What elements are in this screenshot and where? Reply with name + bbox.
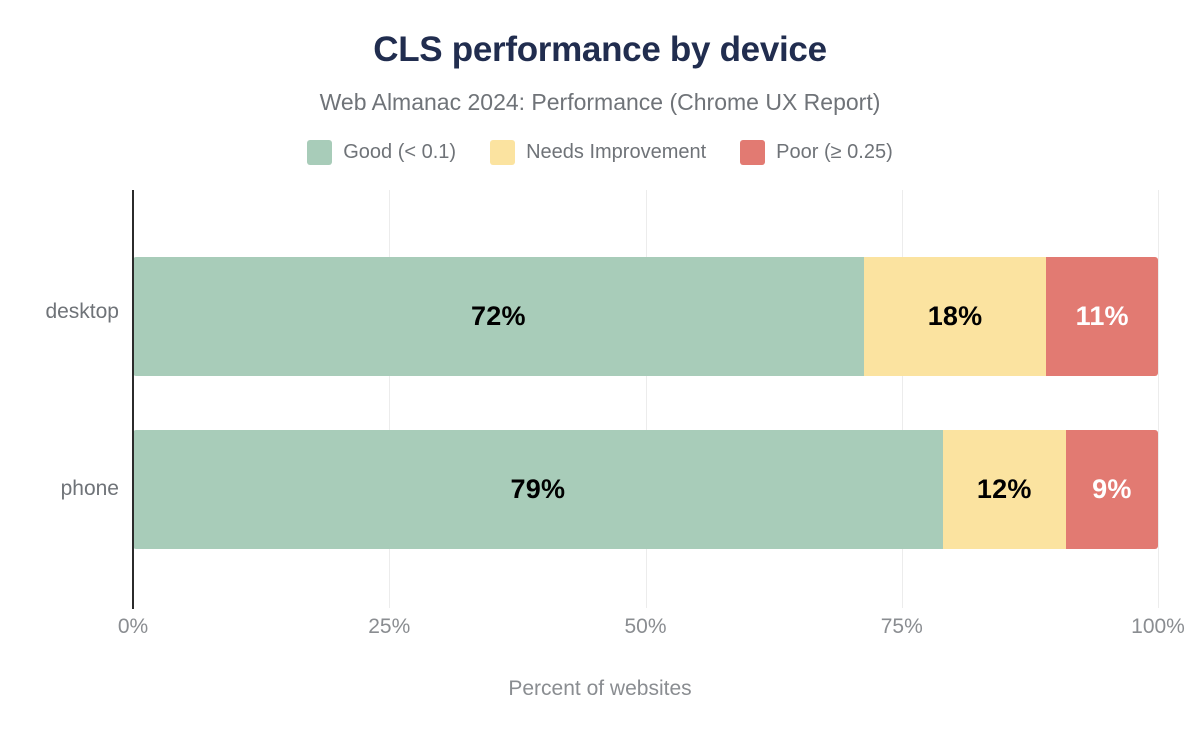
bar-label-desktop-needs-improvement: 18% [928,301,983,332]
legend-swatch-needs-improvement-icon [490,140,515,165]
chart-subtitle: Web Almanac 2024: Performance (Chrome UX… [0,89,1200,116]
x-tick-label-25: 25% [368,615,410,639]
legend-label-needs-improvement: Needs Improvement [526,141,706,164]
legend-item-good[interactable]: Good (< 0.1) [307,140,456,165]
bar-label-phone-poor: 9% [1092,474,1131,505]
x-tick-label-0: 0% [118,615,148,639]
y-tick-label-phone: phone [0,477,119,501]
bar-label-phone-needs-improvement: 12% [977,474,1032,505]
bar-label-desktop-poor: 11% [1076,301,1129,332]
legend-swatch-poor-icon [740,140,765,165]
bar-segment-phone-good[interactable]: 79% [133,430,943,549]
plot-area: 72% 18% 11% 79% 12% 9% [133,190,1158,608]
x-tick-label-50: 50% [624,615,666,639]
bar-label-phone-good: 79% [511,474,566,505]
bar-segment-desktop-needs-improvement[interactable]: 18% [864,257,1047,376]
chart-legend: Good (< 0.1) Needs Improvement Poor (≥ 0… [0,140,1200,165]
bar-segment-desktop-poor[interactable]: 11% [1046,257,1158,376]
chart-title: CLS performance by device [0,30,1200,70]
chart-figure: CLS performance by device Web Almanac 20… [0,0,1200,742]
y-tick-label-desktop: desktop [0,300,119,324]
bar-segment-phone-poor[interactable]: 9% [1066,430,1158,549]
bar-label-desktop-good: 72% [471,301,526,332]
x-tick-label-75: 75% [881,615,923,639]
legend-item-needs-improvement[interactable]: Needs Improvement [490,140,706,165]
bar-row-desktop[interactable]: 72% 18% 11% [133,257,1158,376]
bar-segment-phone-needs-improvement[interactable]: 12% [943,430,1066,549]
bar-row-phone[interactable]: 79% 12% 9% [133,430,1158,549]
legend-swatch-good-icon [307,140,332,165]
legend-label-poor: Poor (≥ 0.25) [776,141,893,164]
gridline-100 [1158,190,1159,608]
bar-segment-desktop-good[interactable]: 72% [133,257,864,376]
x-tick-label-100: 100% [1131,615,1185,639]
x-axis-title: Percent of websites [0,677,1200,701]
legend-item-poor[interactable]: Poor (≥ 0.25) [740,140,893,165]
y-axis-line [132,190,134,609]
legend-label-good: Good (< 0.1) [343,141,456,164]
